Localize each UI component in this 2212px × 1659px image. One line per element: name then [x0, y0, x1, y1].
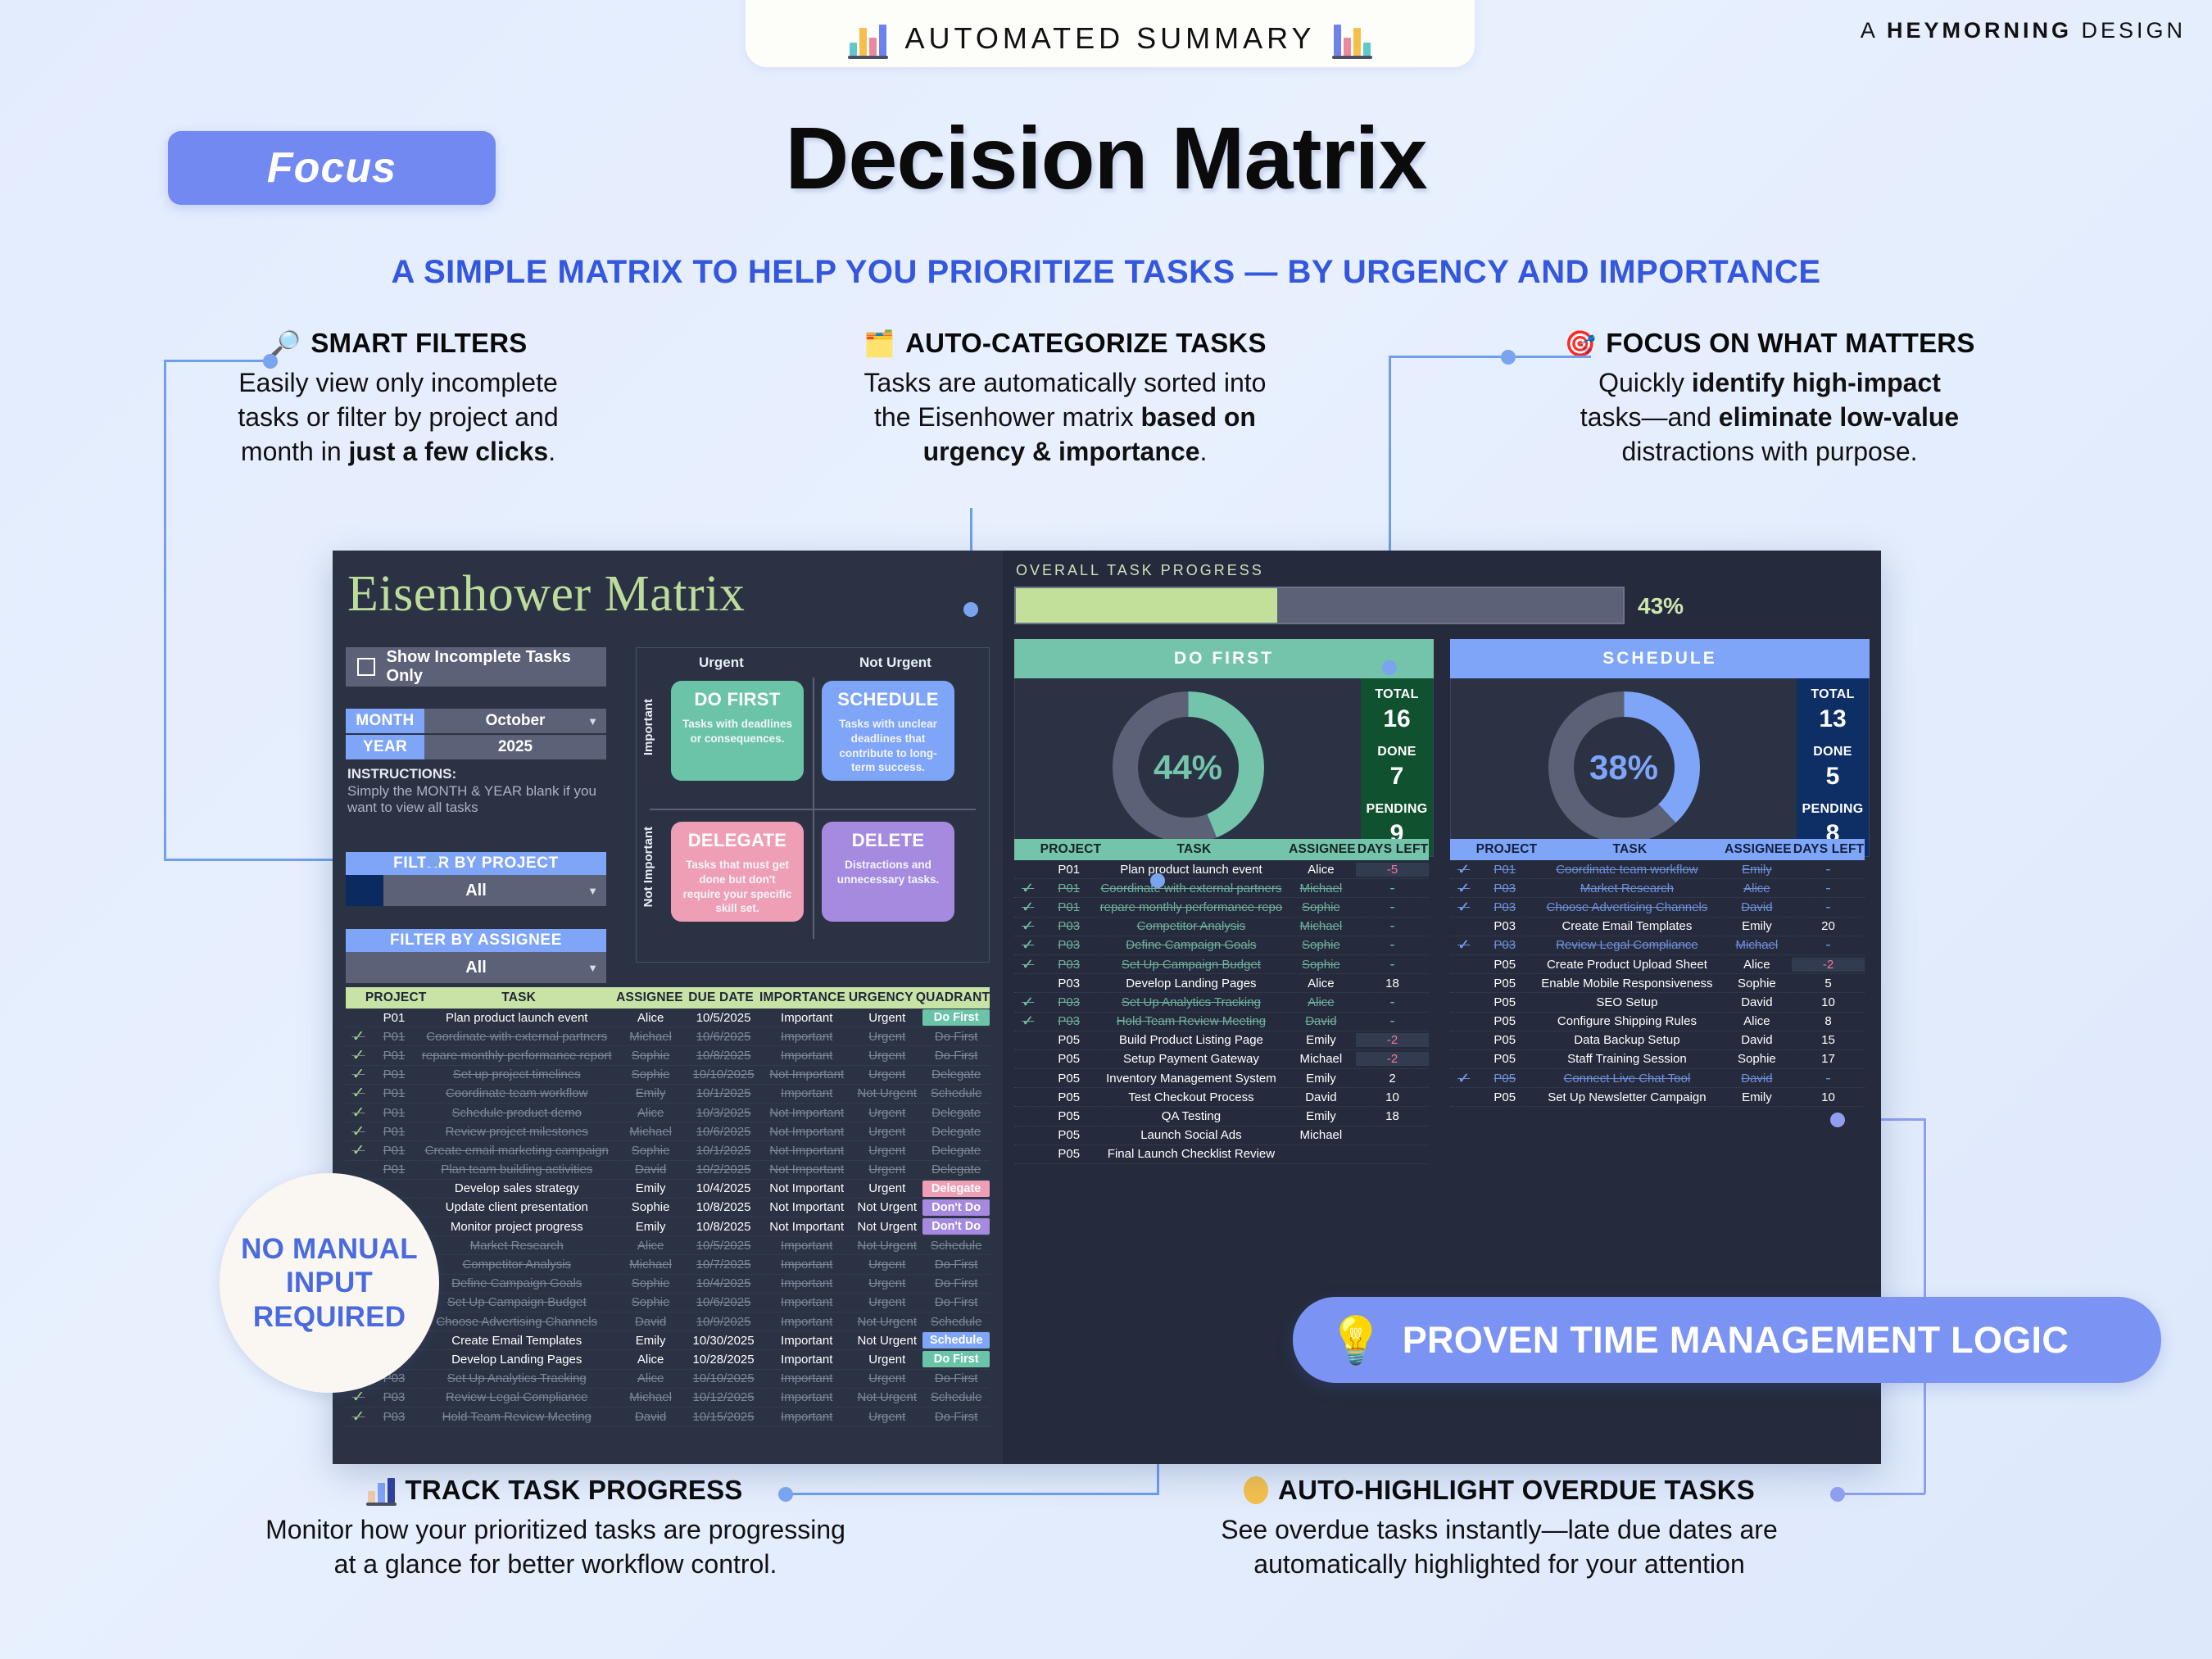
panel-body: 44% TOTAL 16 DONE 7 PENDING 9 [1014, 678, 1434, 857]
cell-assignee: David [616, 1410, 685, 1424]
cell-task: Build Product Listing Page [1096, 1033, 1286, 1047]
filter-by-assignee-select[interactable]: All▼ [346, 952, 606, 983]
table-row[interactable]: P05SEO SetupDavid10 [1450, 993, 1865, 1012]
panel-header: DO FIRST [1014, 639, 1434, 678]
cell-days-left: - [1356, 958, 1429, 972]
cell-importance: Important [762, 1239, 851, 1253]
row-check[interactable]: ✓ [346, 1027, 371, 1046]
table-row[interactable]: P01Plan product launch eventAlice10/5/20… [346, 1009, 990, 1027]
cell-quadrant: Delegate [922, 1144, 990, 1158]
proven-logic-label: PROVEN TIME MANAGEMENT LOGIC [1403, 1319, 2069, 1362]
cell-importance: Important [762, 1276, 851, 1290]
table-row[interactable]: ✓P01Coordinate with external partnersMic… [1014, 879, 1429, 898]
cell-days-left: 20 [1792, 919, 1865, 933]
cell-project: P05 [1477, 1033, 1532, 1047]
cell-importance: Not Important [762, 1125, 851, 1139]
panel-header: SCHEDULE [1450, 639, 1870, 678]
cell-task: Review Legal Compliance [1532, 938, 1722, 952]
cell-project: P03 [1477, 882, 1532, 895]
cell-importance: Not Important [762, 1220, 851, 1234]
cell-days-left: - [1356, 938, 1429, 952]
stat-value-done: 7 [1390, 763, 1404, 791]
month-value[interactable]: October▼ [424, 709, 606, 733]
row-check[interactable]: ✓ [1450, 880, 1477, 897]
cell-assignee: Sophie [1722, 1052, 1792, 1066]
table-row[interactable]: ✓Set Up Campaign BudgetSophie10/6/2025Im… [346, 1294, 990, 1312]
cell-urgency: Urgent [851, 1276, 922, 1290]
col-days-left: DAYS LEFT [1793, 839, 1865, 860]
table-row[interactable]: P03Develop Landing PagesAlice18 [1014, 974, 1429, 993]
cell-importance: Important [762, 1030, 851, 1044]
cell-assignee: Alice [1722, 958, 1792, 972]
cell-days-left: 2 [1356, 1072, 1429, 1086]
quadrant-title: DELETE [830, 830, 946, 851]
connector-smart-filters [164, 360, 166, 860]
cell-project: P05 [1041, 1033, 1096, 1047]
cell-due-date: 10/3/2025 [685, 1106, 762, 1120]
callout-heading: AUTO-CATEGORIZE TASKS [905, 328, 1267, 359]
cell-task: Coordinate with external partners [1096, 882, 1286, 895]
table-row[interactable]: P05Setup Payment GatewayMichael-2 [1014, 1050, 1429, 1069]
cell-urgency: Not Urgent [851, 1334, 922, 1348]
table-row[interactable]: Monitor project progressEmily10/8/2025No… [346, 1217, 990, 1236]
connector-dot-overdue [1830, 1487, 1845, 1502]
col-project: PROJECT [1477, 839, 1536, 860]
cell-project: P03 [1041, 958, 1096, 972]
table-row[interactable]: ✓P03Hold Team Review MeetingDavid- [1014, 1013, 1429, 1031]
row-check[interactable]: ✓ [1014, 994, 1041, 1011]
cell-due-date: 10/12/2025 [685, 1390, 762, 1404]
table-row[interactable]: ✓P03Set Up Analytics TrackingAlice- [1014, 993, 1429, 1012]
cell-days-left: - [1356, 919, 1429, 933]
donut-chart-do-first: 44% [1113, 691, 1264, 843]
cell-assignee: Michael [1722, 938, 1792, 952]
cell-days-left: - [1792, 882, 1865, 895]
cell-task: Coordinate team workflow [1532, 863, 1722, 877]
cell-quadrant: Delegate [922, 1067, 990, 1081]
cell-importance: Important [762, 1334, 851, 1348]
callout-line-1: Monitor how your prioritized tasks are p… [146, 1512, 965, 1547]
cell-days-left: 10 [1792, 1090, 1865, 1104]
magnifying-glass-icon: 🔎 [270, 331, 301, 356]
brand-pre: A [1861, 18, 1887, 43]
col-days-left: DAYS LEFT [1357, 839, 1429, 860]
stat-label-pending: PENDING [1802, 802, 1864, 817]
table-row[interactable]: ✓P01Coordinate team workflowEmily- [1450, 860, 1865, 879]
cell-quadrant: Schedule [922, 1086, 990, 1100]
cell-urgency: Urgent [851, 1410, 922, 1424]
table-header-row: PROJECT TASK ASSIGNEE DAYS LEFT [1014, 839, 1429, 860]
no-manual-input-badge: NO MANUAL INPUT REQUIRED [220, 1173, 439, 1393]
filter-by-assignee-label: FILTER BY ASSIGNEE [346, 929, 606, 952]
table-row[interactable]: ✓P01repare monthly performance reportSop… [346, 1046, 990, 1065]
month-label: MONTH [346, 709, 424, 733]
cell-assignee: Alice [616, 1011, 685, 1025]
cell-due-date: 10/4/2025 [685, 1181, 762, 1195]
overall-progress-bar [1014, 587, 1625, 624]
cell-urgency: Not Urgent [851, 1086, 922, 1100]
cell-task: Hold Team Review Meeting [1096, 1014, 1286, 1028]
cell-project: P05 [1041, 1147, 1096, 1161]
cell-project: P01 [371, 1144, 417, 1158]
row-check[interactable]: ✓ [1450, 936, 1477, 954]
donut-percent: 44% [1154, 748, 1222, 787]
cell-assignee: Emily [616, 1181, 685, 1195]
cell-urgency: Urgent [851, 1049, 922, 1063]
callout-auto-categorize: 🗂️ AUTO-CATEGORIZE TASKS Tasks are autom… [782, 328, 1348, 469]
cell-quadrant: Don't Do [922, 1218, 990, 1235]
table-row[interactable]: ✓P01repare monthly performance repoSophi… [1014, 898, 1429, 917]
cell-assignee: Sophie [616, 1067, 685, 1081]
cell-urgency: Urgent [851, 1163, 922, 1176]
cell-assignee: Emily [1722, 919, 1792, 933]
callout-overdue: AUTO-HIGHLIGHT OVERDUE TASKS See overdue… [1122, 1475, 1876, 1581]
cell-task: Monitor project progress [417, 1220, 616, 1234]
col-assignee: ASSIGNEE [616, 987, 683, 1009]
table-row[interactable]: P05Staff Training SessionSophie17 [1450, 1050, 1865, 1069]
cell-task: Schedule product demo [417, 1106, 616, 1120]
cell-urgency: Urgent [851, 1295, 922, 1309]
page-subtitle: A SIMPLE MATRIX TO HELP YOU PRIORITIZE T… [0, 254, 2212, 291]
table-row[interactable]: ✓P03Define Campaign GoalsSophie- [1014, 936, 1429, 955]
table-row[interactable]: P05Enable Mobile ResponsivenessSophie5 [1450, 974, 1865, 993]
eisenhower-matrix-title: Eisenhower Matrix [347, 565, 745, 623]
cell-task: Coordinate with external partners [417, 1030, 616, 1044]
cell-task: Data Backup Setup [1532, 1033, 1722, 1047]
callout-line-1: See overdue tasks instantly—late due dat… [1122, 1512, 1876, 1547]
cell-task: Coordinate team workflow [417, 1086, 616, 1100]
cell-quadrant: Do First [922, 1009, 990, 1026]
column-header-urgent: Urgent [699, 655, 744, 671]
table-row[interactable]: P05Final Launch Checklist Review [1014, 1145, 1429, 1164]
table-row[interactable]: ✓P03Set Up Analytics TrackingAlice10/10/… [346, 1370, 990, 1389]
cell-project: P03 [1477, 938, 1532, 952]
row-check[interactable]: ✓ [346, 1084, 371, 1103]
row-check[interactable]: ✓ [1014, 899, 1041, 916]
show-incomplete-checkbox[interactable] [357, 658, 375, 676]
table-row[interactable]: P05Inventory Management SystemEmily2 [1014, 1069, 1429, 1088]
cell-quadrant: Do First [922, 1410, 990, 1424]
table-row[interactable]: Create Email TemplatesEmily10/30/2025Imp… [346, 1331, 990, 1350]
table-row[interactable]: ✓P01Coordinate with external partnersMic… [346, 1027, 990, 1046]
cell-project: P05 [1477, 1014, 1532, 1028]
automated-summary-pill: AUTOMATED SUMMARY [746, 0, 1475, 67]
cell-assignee: Emily [1722, 863, 1792, 877]
cell-urgency: Urgent [851, 1371, 922, 1385]
callout-track-progress: TRACK TASK PROGRESS Monitor how your pri… [146, 1475, 965, 1581]
quadrant-cell-delegate: DELEGATE Tasks that must get done but do… [671, 822, 804, 922]
lightbulb-gears-icon: 💡 [1327, 1317, 1385, 1363]
bar-chart-icon-right [1334, 23, 1371, 56]
cell-days-left: - [1356, 1014, 1429, 1028]
row-check[interactable]: ✓ [1450, 861, 1477, 878]
cell-quadrant: Do First [922, 1351, 990, 1367]
cell-project: P01 [371, 1067, 417, 1081]
cell-quadrant: Delegate [922, 1163, 990, 1176]
table-row[interactable]: P03Create Email TemplatesEmily20 [1450, 918, 1865, 936]
col-task: TASK [421, 987, 616, 1009]
cell-assignee: Sophie [616, 1049, 685, 1063]
table-row[interactable]: ✓P01Review project milestonesMichael10/6… [346, 1122, 990, 1141]
chevron-down-icon[interactable]: ▼ [587, 885, 598, 897]
filter-by-project-select[interactable]: All▼ [346, 875, 606, 906]
cell-assignee: David [1722, 1072, 1792, 1086]
overall-progress-fill [1016, 588, 1277, 623]
cell-assignee: Sophie [1286, 958, 1356, 972]
month-row[interactable]: MONTH October▼ [346, 709, 606, 733]
col-assignee: ASSIGNEE [1288, 839, 1357, 860]
cell-days-left: - [1792, 938, 1865, 952]
table-row[interactable]: Update client presentationSophie10/8/202… [346, 1199, 990, 1217]
cell-project: P05 [1477, 1072, 1532, 1086]
table-row[interactable]: ✓Define Campaign GoalsSophie10/4/2025Imp… [346, 1275, 990, 1294]
cell-importance: Not Important [762, 1200, 851, 1214]
cell-assignee: Alice [1286, 863, 1356, 877]
cell-project: P03 [1477, 900, 1532, 914]
cell-project: P03 [1041, 995, 1096, 1009]
callout-heading: FOCUS ON WHAT MATTERS [1606, 328, 1974, 359]
cell-assignee: Emily [1722, 1090, 1792, 1104]
pill-title: AUTOMATED SUMMARY [904, 21, 1315, 56]
table-row[interactable]: P01Plan team building activitiesDavid10/… [346, 1161, 990, 1180]
table-row[interactable]: ✓P01Set up project timelinesSophie10/10/… [346, 1066, 990, 1085]
cell-importance: Important [762, 1295, 851, 1309]
year-row[interactable]: YEAR 2025 [346, 735, 606, 759]
table-row[interactable]: P01Plan product launch eventAlice-5 [1014, 860, 1429, 879]
cell-project: P05 [1041, 1109, 1096, 1123]
instructions-heading: INSTRUCTIONS: [347, 766, 610, 783]
connector-dot-track2 [1150, 873, 1165, 888]
table-row[interactable]: ✓P03Market ResearchAlice- [1450, 879, 1865, 898]
callout-line-2: the Eisenhower matrix based on [782, 400, 1348, 434]
cell-task: Review Legal Compliance [417, 1390, 616, 1404]
cell-assignee: David [616, 1315, 685, 1329]
table-body: P01Plan product launch eventAlice-5✓P01C… [1014, 860, 1429, 1164]
table-row[interactable]: ✓P01Coordinate team workflowEmily10/1/20… [346, 1085, 990, 1104]
cell-quadrant: Do First [922, 1049, 990, 1063]
row-check[interactable]: ✓ [1014, 1013, 1041, 1030]
show-incomplete-checkbox-row[interactable]: Show Incomplete Tasks Only [346, 647, 606, 687]
col-task: TASK [1536, 839, 1724, 860]
donut-hole: 38% [1574, 717, 1675, 818]
row-header-not-important: Not Important [641, 827, 655, 907]
cell-importance: Not Important [762, 1067, 851, 1081]
cell-importance: Important [762, 1315, 851, 1329]
cell-importance: Important [762, 1086, 851, 1100]
cell-importance: Important [762, 1371, 851, 1385]
table-row[interactable]: ✓P03Choose Advertising ChannelsDavid- [1450, 898, 1865, 917]
table-row[interactable]: ✓P01Schedule product demoAlice10/3/2025N… [346, 1104, 990, 1122]
cell-assignee: Michael [616, 1125, 685, 1139]
callout-focus-matters: 🎯 FOCUS ON WHAT MATTERS Quickly identify… [1499, 328, 2040, 469]
cell-urgency: Not Urgent [851, 1239, 922, 1253]
chevron-down-icon[interactable]: ▼ [587, 715, 598, 728]
table-row[interactable]: Develop sales strategyEmily10/4/2025Not … [346, 1180, 990, 1199]
cell-assignee: Alice [616, 1239, 685, 1253]
cell-days-left: 10 [1356, 1090, 1429, 1104]
year-value[interactable]: 2025 [424, 735, 606, 759]
table-row[interactable]: ✓P03Hold Team Review MeetingDavid10/15/2… [346, 1407, 990, 1426]
cell-urgency: Urgent [851, 1353, 922, 1367]
cell-task: Launch Social Ads [1096, 1128, 1286, 1142]
callout-line-3: distractions with purpose. [1499, 434, 2040, 469]
cell-assignee: Sophie [1722, 977, 1792, 990]
cell-project: P05 [1477, 995, 1532, 1009]
cell-assignee: Emily [616, 1086, 685, 1100]
cell-task: repare monthly performance repo [1096, 900, 1286, 914]
cell-due-date: 10/1/2025 [685, 1144, 762, 1158]
cell-project: P03 [1041, 919, 1096, 933]
badge-line-2: INPUT [286, 1266, 373, 1299]
cell-due-date: 10/6/2025 [685, 1030, 762, 1044]
cell-assignee: Michael [1286, 919, 1356, 933]
table-row[interactable]: ✓P03Review Legal ComplianceMichael10/12/… [346, 1389, 990, 1407]
table-row[interactable]: P05Data Backup SetupDavid15 [1450, 1031, 1865, 1050]
col-task: TASK [1100, 839, 1288, 860]
cell-project: P03 [1041, 977, 1096, 990]
cell-project: P05 [1041, 1090, 1096, 1104]
cell-due-date: 10/28/2025 [685, 1353, 762, 1367]
callout-line-2: tasks or filter by project and [161, 400, 636, 434]
cell-project: P03 [1041, 938, 1096, 952]
table-row[interactable]: ✓Choose Advertising ChannelsDavid10/9/20… [346, 1312, 990, 1331]
callout-line-3: urgency & importance. [782, 434, 1348, 469]
row-check[interactable]: ✓ [1014, 918, 1041, 935]
quadrant-title: DO FIRST [679, 689, 796, 710]
cell-quadrant: Delegate [922, 1106, 990, 1120]
cell-task: Set Up Campaign Budget [1096, 958, 1286, 972]
table-row[interactable]: P05Launch Social AdsMichael [1014, 1126, 1429, 1145]
yellow-circle-icon [1244, 1476, 1268, 1504]
row-check[interactable]: ✓ [346, 1122, 371, 1141]
donut-hole: 44% [1138, 717, 1239, 818]
cell-project: P03 [1041, 1014, 1096, 1028]
cell-task: Review project milestones [417, 1125, 616, 1139]
cell-assignee: David [1722, 995, 1792, 1009]
table-row[interactable]: ✓P03Set Up Campaign BudgetSophie- [1014, 955, 1429, 974]
cell-project: P01 [371, 1163, 417, 1176]
cell-days-left: - [1356, 882, 1429, 895]
cell-assignee: David [1286, 1090, 1356, 1104]
cell-due-date: 10/15/2025 [685, 1410, 762, 1424]
table-row[interactable]: P05Test Checkout ProcessDavid10 [1014, 1088, 1429, 1107]
cell-task: Plan product launch event [1096, 863, 1286, 877]
callout-smart-filters: 🔎 SMART FILTERS Easily view only incompl… [161, 328, 636, 469]
cell-urgency: Urgent [851, 1011, 922, 1025]
table-row[interactable]: P05QA TestingEmily18 [1014, 1107, 1429, 1126]
cell-due-date: 10/30/2025 [685, 1334, 762, 1348]
table-row[interactable]: P05Set Up Newsletter CampaignEmily10 [1450, 1088, 1865, 1107]
cell-importance: Not Important [762, 1163, 851, 1176]
table-row[interactable]: P05Build Product Listing PageEmily-2 [1014, 1031, 1429, 1050]
row-check[interactable]: ✓ [1014, 936, 1041, 954]
connector-dot-auto [963, 602, 978, 617]
bar-chart-icon [368, 1478, 395, 1503]
do-first-task-table: PROJECT TASK ASSIGNEE DAYS LEFT P01Plan … [1014, 839, 1429, 1164]
table-row[interactable]: ✓Competitor AnalysisMichael10/7/2025Impo… [346, 1255, 990, 1274]
cell-days-left: 15 [1792, 1033, 1865, 1047]
cell-task: Set Up Analytics Tracking [1096, 995, 1286, 1009]
brand-post: DESIGN [2072, 18, 2186, 43]
quadrant-desc: Tasks with deadlines or consequences. [679, 717, 796, 746]
cell-project: P01 [1041, 882, 1096, 895]
bar-chart-icon-left [850, 23, 886, 56]
cell-assignee: Sophie [616, 1144, 685, 1158]
cell-task: Market Research [1532, 882, 1722, 895]
callout-line-2: tasks—and eliminate low-value [1499, 400, 2040, 434]
chevron-down-icon[interactable]: ▼ [587, 962, 598, 974]
cell-quadrant: Do First [922, 1295, 990, 1309]
cell-task: Create Email Templates [417, 1334, 616, 1348]
table-row[interactable]: P03Develop Landing PagesAlice10/28/2025I… [346, 1350, 990, 1369]
cell-task: Set up project timelines [417, 1067, 616, 1081]
cell-project: P01 [1041, 900, 1096, 914]
row-check[interactable]: ✓ [1450, 899, 1477, 916]
table-row[interactable]: ✓P05Connect Live Chat ToolDavid- [1450, 1069, 1865, 1088]
cell-assignee: Michael [1286, 882, 1356, 895]
cell-assignee: Michael [616, 1258, 685, 1271]
table-row[interactable]: ✓P03Competitor AnalysisMichael- [1014, 918, 1429, 936]
cell-task: Set Up Analytics Tracking [417, 1371, 616, 1385]
table-row[interactable]: ✓Market ResearchAlice10/5/2025ImportantN… [346, 1236, 990, 1255]
cell-project: P05 [1041, 1072, 1096, 1086]
cell-assignee: Alice [1722, 882, 1792, 895]
donut-percent: 38% [1589, 748, 1658, 787]
row-check[interactable]: ✓ [1014, 956, 1041, 973]
cell-task: Update client presentation [417, 1200, 616, 1214]
project-color-swatch [346, 875, 383, 906]
overall-progress-percent: 43% [1638, 593, 1684, 619]
cell-task: Set Up Campaign Budget [417, 1295, 616, 1309]
cell-task: Inventory Management System [1096, 1072, 1286, 1086]
row-check[interactable]: ✓ [1014, 880, 1041, 897]
dart-target-icon: 🎯 [1564, 331, 1596, 356]
cell-days-left: - [1356, 995, 1429, 1009]
row-check[interactable]: ✓ [346, 1388, 371, 1407]
table-row[interactable]: ✓P01Create email marketing campaignSophi… [346, 1141, 990, 1160]
cell-quadrant: Do First [922, 1258, 990, 1271]
cell-assignee: Sophie [1286, 900, 1356, 914]
row-check[interactable]: ✓ [346, 1141, 371, 1160]
cell-quadrant: Do First [922, 1371, 990, 1385]
cell-assignee: Alice [1286, 977, 1356, 990]
cell-project: P03 [1477, 919, 1532, 933]
table-row[interactable]: P05Configure Shipping RulesAlice8 [1450, 1013, 1865, 1031]
connector-dot-focus2 [1382, 660, 1397, 675]
cell-task: Create Product Upload Sheet [1532, 958, 1722, 972]
cell-days-left: -2 [1356, 1052, 1429, 1066]
table-row[interactable]: ✓P03Review Legal ComplianceMichael- [1450, 936, 1865, 955]
cell-due-date: 10/10/2025 [685, 1067, 762, 1081]
col-quadrant: QUADRANT [916, 987, 990, 1009]
row-check[interactable]: ✓ [1450, 1070, 1477, 1087]
row-check[interactable]: ✓ [346, 1104, 371, 1122]
callout-line-1: Easily view only incomplete [161, 365, 636, 400]
cell-task: Hold Team Review Meeting [417, 1410, 616, 1424]
row-check[interactable]: ✓ [346, 1407, 371, 1426]
cell-quadrant: Schedule [922, 1315, 990, 1329]
cell-days-left: 18 [1356, 1109, 1429, 1123]
dashboard-left-pane: Eisenhower Matrix Show Incomplete Tasks … [333, 551, 1003, 1464]
table-row[interactable]: P05Create Product Upload SheetAlice-2 [1450, 955, 1865, 974]
connector-dot-track [778, 1487, 793, 1502]
row-check[interactable]: ✓ [346, 1065, 371, 1084]
col-project: PROJECT [370, 987, 421, 1009]
cell-assignee: David [616, 1163, 685, 1176]
cell-task: Competitor Analysis [417, 1258, 616, 1271]
row-check[interactable]: ✓ [346, 1046, 371, 1065]
cell-task: QA Testing [1096, 1109, 1286, 1123]
